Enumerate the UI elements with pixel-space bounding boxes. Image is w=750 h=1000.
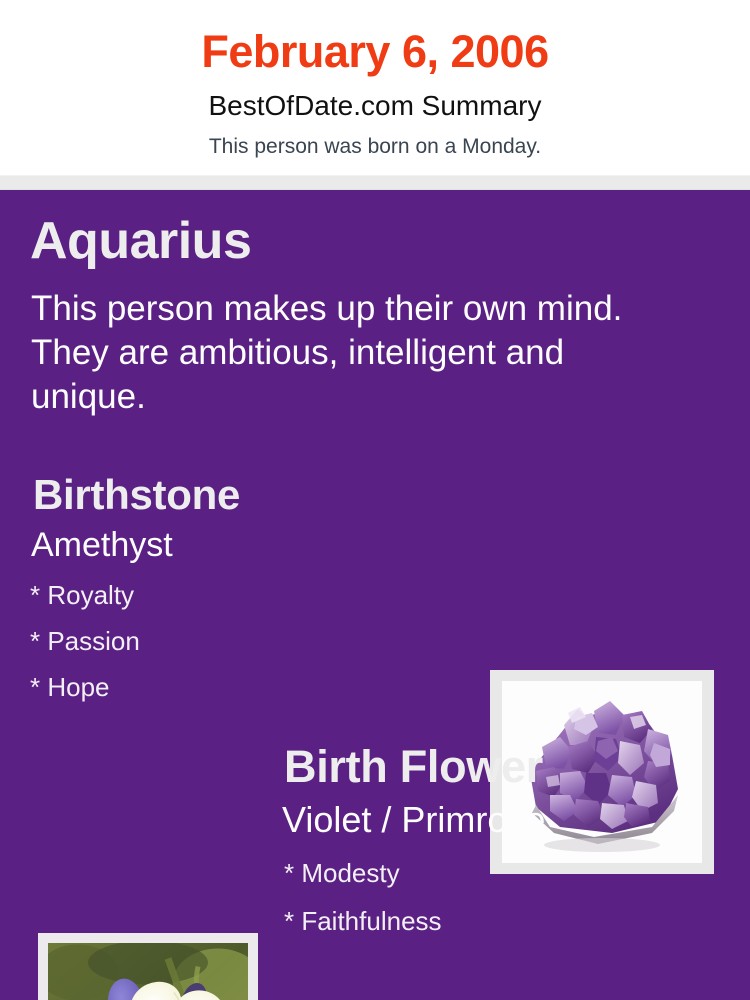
birthflower-photo-frame [38,933,258,1000]
site-subtitle: BestOfDate.com Summary [0,74,750,120]
card-header: February 6, 2006 BestOfDate.com Summary … [0,0,750,175]
violet-primrose-icon [48,943,248,1000]
birthstone-heading: Birthstone [33,474,473,516]
summary-card: February 6, 2006 BestOfDate.com Summary … [0,0,750,1000]
zodiac-sign-title: Aquarius [30,215,251,267]
page-title: February 6, 2006 [0,0,750,74]
birthstone-trait: * Passion [30,608,473,654]
birth-day-note: This person was born on a Monday. [0,120,750,157]
birthflower-trait: * Modesty [284,838,714,886]
zodiac-description: This person makes up their own mind. The… [31,287,681,419]
card-body: Aquarius This person makes up their own … [0,191,750,1000]
birthflower-name: Violet / Primrose [282,789,714,838]
header-divider [0,175,750,190]
birthstone-trait: * Royalty [30,562,473,608]
birthflower-trait: * Faithfulness [284,886,714,934]
birthstone-name: Amethyst [31,516,473,562]
birthstone-trait: * Hope [30,654,473,700]
birthstone-section: Birthstone Amethyst * Royalty * Passion … [33,474,473,700]
birthflower-section: Birth Flower Violet / Primrose * Modesty… [284,744,714,934]
birthflower-heading: Birth Flower [284,744,714,789]
